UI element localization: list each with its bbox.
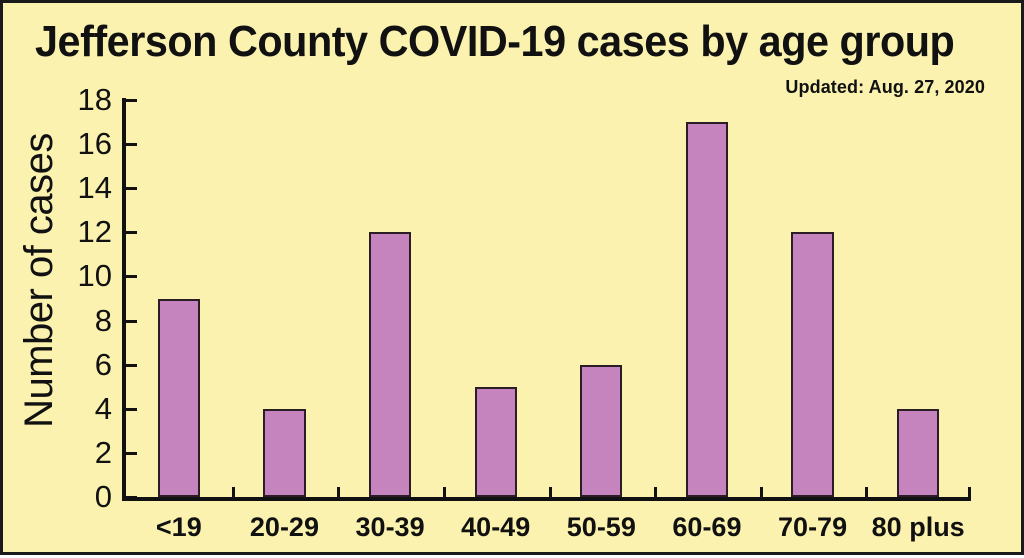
x-tick-label: 50-59 [567,512,636,543]
y-tick-label: 2 [95,435,112,471]
y-tick-mark [126,320,137,323]
x-tick-label: 40-49 [461,512,530,543]
y-tick-label: 8 [95,303,112,339]
x-tick-mark [337,487,340,501]
bar-60-69 [686,122,728,497]
x-tick-mark [654,487,657,501]
page-title: Jefferson County COVID-19 cases by age g… [35,17,937,67]
y-axis-title: Number of cases [15,3,63,558]
y-tick-label: 12 [78,214,112,250]
updated-timestamp: Updated: Aug. 27, 2020 [785,77,985,98]
bar-70-79 [791,232,833,497]
y-tick-label: 6 [95,347,112,383]
bar-80-plus [897,409,939,497]
x-tick-mark [865,487,868,501]
y-tick-mark [126,231,137,234]
y-tick-label: 0 [95,479,112,515]
bar-40-49 [475,387,517,497]
x-axis-line [122,497,971,501]
y-tick-label: 4 [95,391,112,427]
x-tick-label: 20-29 [250,512,319,543]
x-tick-mark [232,487,235,501]
y-tick-mark [126,452,137,455]
x-tick-label: 70-79 [778,512,847,543]
bar-20-29 [263,409,305,497]
y-tick-label: 18 [78,82,112,118]
x-tick-label: 30-39 [356,512,425,543]
x-tick-mark [760,487,763,501]
x-tick-label: <19 [156,512,202,543]
x-tick-mark [549,487,552,501]
y-tick-mark [126,275,137,278]
y-axis-title-label: Number of cases [17,133,62,428]
y-tick-mark [126,99,137,102]
y-tick-mark [126,364,137,367]
y-tick-mark [126,408,137,411]
y-tick-mark [126,496,137,499]
y-axis-line [122,98,126,499]
x-tick-label: 60-69 [672,512,741,543]
bar-chart-figure: Jefferson County COVID-19 cases by age g… [0,0,1024,555]
x-tick-mark-end [968,487,971,501]
y-tick-label: 16 [78,126,112,162]
bar-50-59 [580,365,622,497]
x-tick-label: 80 plus [872,512,965,543]
y-tick-label: 10 [78,258,112,294]
x-tick-mark [443,487,446,501]
plot-area: 024681012141618 <1920-2930-3940-4950-596… [126,100,971,497]
bar--19 [158,299,200,498]
y-tick-mark [126,143,137,146]
bar-30-39 [369,232,411,497]
y-tick-label: 14 [78,170,112,206]
y-tick-mark [126,187,137,190]
